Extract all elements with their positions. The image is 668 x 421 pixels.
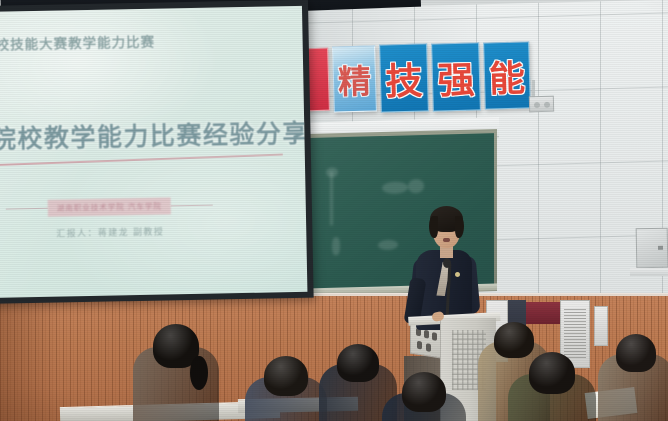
presenter-badge [455, 272, 460, 277]
cabinet-shelf [630, 268, 668, 276]
podium-button[interactable] [424, 330, 429, 339]
podium-button[interactable] [417, 341, 422, 350]
audience-member-right-edge-head [616, 334, 656, 372]
wall-mounted-cabinet-icon [636, 228, 668, 269]
av-rack-vent [564, 308, 586, 358]
chalk-mark [408, 179, 424, 193]
presenter-mouth [443, 238, 450, 242]
poster-ji: 技 [379, 43, 429, 112]
chalk-mark [326, 167, 338, 177]
wall-mounted-speaker-icon [529, 96, 554, 113]
microphone-head-icon [443, 258, 451, 268]
audience-member-podium-front-head [402, 372, 446, 412]
presenter-hair-left [429, 216, 438, 238]
wainscot-shadow [0, 296, 60, 421]
poster-qiang: 强 [431, 42, 481, 111]
poster-neng: 能 [483, 41, 531, 109]
chalk-mark [382, 181, 408, 194]
chalk-mark [332, 237, 340, 255]
badge-rule-left [6, 207, 48, 209]
audience-ponytail [190, 356, 208, 390]
poster-char-neng: 能 [488, 49, 525, 102]
speaker-dot-right [544, 102, 550, 108]
poster-char-qiang: 强 [437, 50, 475, 105]
chalk-mark [378, 240, 398, 251]
slide-title-text: 业院校教学能力比赛经验分享 [0, 114, 285, 156]
projection-screen: 业院校技能大赛教学能力比赛 业院校教学能力比赛经验分享 湖南职业技术学院 汽车学… [0, 6, 307, 298]
slide-affiliation-text: 湖南职业技术学院 汽车学院 [48, 197, 171, 216]
audience-member-olive-head [529, 352, 575, 394]
classroom-photo: 精 技 强 能 业院校技能大赛教学能力比赛 [0, 0, 668, 421]
podium-button[interactable] [432, 332, 437, 341]
poster-jing: 精 [332, 45, 377, 112]
audience-member-left-2-head [264, 356, 308, 396]
chalk-mark [330, 171, 333, 225]
cabinet-latch-icon [658, 246, 663, 250]
audience-member-khaki-head [494, 322, 534, 358]
av-rack-red-panel [526, 302, 560, 324]
audience-member-center-head [337, 344, 379, 382]
poster-char-jing: 精 [337, 55, 371, 104]
badge-rule-right [171, 204, 213, 206]
av-rack-panel-far [594, 306, 608, 346]
podium-button[interactable] [426, 343, 431, 352]
speaker-dot-left [534, 102, 540, 108]
poster-char-ji: 技 [385, 51, 423, 106]
